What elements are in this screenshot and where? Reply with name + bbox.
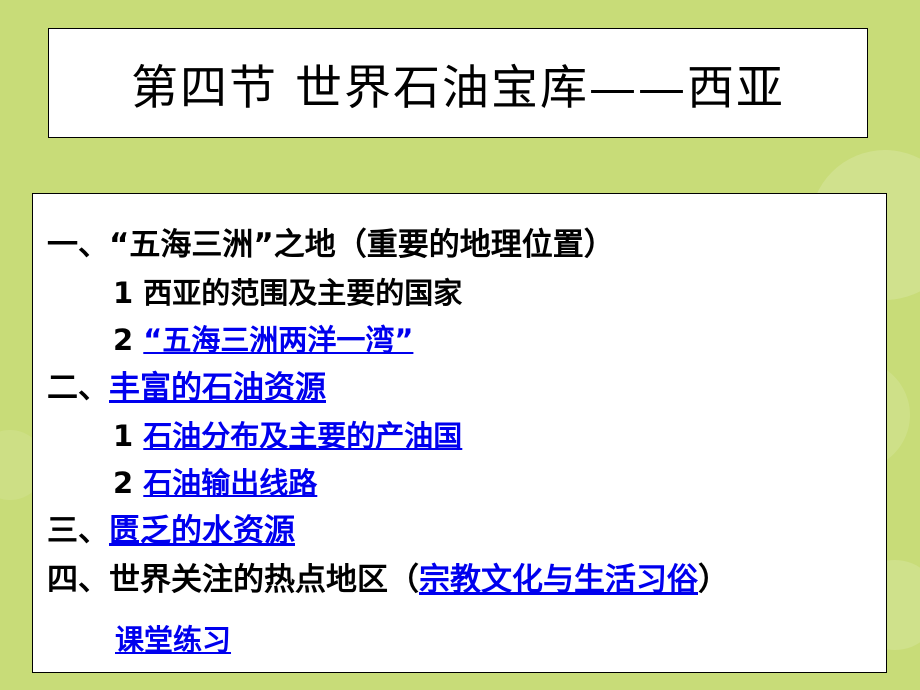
outline-text-item-2-2: 2: [113, 466, 143, 500]
outline-row-section-2: 二、丰富的石油资源: [33, 373, 886, 404]
outline-text-item-1-2: 2: [113, 323, 143, 357]
outline-text-section-2: 二、: [47, 370, 109, 406]
outline-row-section-4: 四、世界关注的热点地区（宗教文化与生活习俗）: [33, 565, 886, 596]
outline-row-item-2-1: 1 石油分布及主要的产油国: [33, 422, 886, 451]
outline-box: 一、“五海三洲”之地（重要的地理位置）1 西亚的范围及主要的国家2 “五海三洲两…: [32, 193, 887, 673]
outline-link-item-2-2[interactable]: 石油输出线路: [143, 466, 317, 500]
outline-link-exercise[interactable]: 课堂练习: [115, 623, 231, 657]
outline-link-item-2-1[interactable]: 石油分布及主要的产油国: [143, 419, 462, 453]
outline-link-section-4[interactable]: 宗教文化与生活习俗: [419, 562, 698, 598]
outline-link-section-3[interactable]: 匮乏的水资源: [109, 513, 295, 549]
outline-text-section-4: ）: [698, 562, 729, 598]
slide-title: 第四节 世界石油宝库——西亚: [131, 49, 785, 118]
outline-text-item-1-1: 西亚的范围及主要的国家: [143, 276, 462, 310]
outline-row-exercise: 课堂练习: [33, 626, 886, 655]
outline-text-section-3: 三、: [47, 513, 109, 549]
outline-text-section-4: 四、世界关注的热点地区（: [47, 562, 419, 598]
outline-row-item-1-1: 1 西亚的范围及主要的国家: [33, 279, 886, 308]
outline-row-item-2-2: 2 石油输出线路: [33, 469, 886, 498]
outline-link-section-2[interactable]: 丰富的石油资源: [109, 370, 326, 406]
outline-text-item-2-1: 1: [113, 419, 143, 453]
outline-text-section-1: 一、“五海三洲”之地（重要的地理位置）: [47, 227, 615, 263]
outline-row-item-1-2: 2 “五海三洲两洋一湾”: [33, 326, 886, 355]
outline-row-section-1: 一、“五海三洲”之地（重要的地理位置）: [33, 230, 886, 261]
outline-row-section-3: 三、匮乏的水资源: [33, 516, 886, 547]
outline-text-item-1-1: 1: [113, 276, 143, 310]
slide: 第四节 世界石油宝库——西亚 一、“五海三洲”之地（重要的地理位置）1 西亚的范…: [0, 0, 920, 690]
outline-link-item-1-2[interactable]: “五海三洲两洋一湾”: [143, 323, 413, 357]
outline-list: 一、“五海三洲”之地（重要的地理位置）1 西亚的范围及主要的国家2 “五海三洲两…: [33, 230, 886, 655]
slide-title-box: 第四节 世界石油宝库——西亚: [48, 28, 868, 138]
